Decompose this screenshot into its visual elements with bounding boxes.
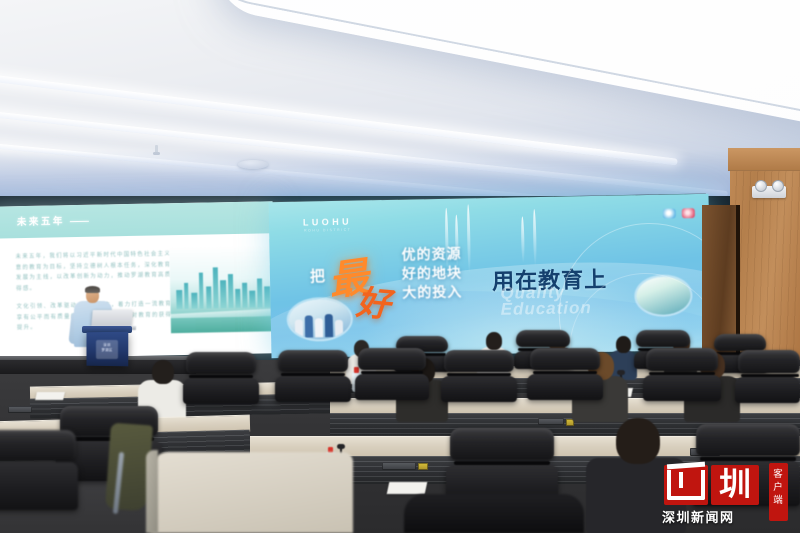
chair-shell-edge <box>146 450 158 533</box>
paper-mid-left[interactable] <box>35 392 65 400</box>
badge-red-emblem-icon <box>682 208 695 218</box>
luohu-logo-subtitle: ROHU DISTRICT <box>304 228 351 233</box>
headline-columns: 优的资源 好的地块 大的投入 <box>401 245 462 303</box>
ceiling <box>0 0 800 205</box>
badge-blue-emblem-icon <box>663 208 676 218</box>
slide-city-image <box>169 245 275 333</box>
headline-column-1: 优的资源 <box>401 245 461 265</box>
watermark-glyph-icon <box>664 465 708 505</box>
paper-near-1[interactable] <box>387 482 428 494</box>
students-photo-circle <box>288 299 351 340</box>
slide-greenbelt <box>171 317 276 334</box>
watermark-side-text: 客户端 <box>769 463 788 521</box>
headline-column-3: 大的投入 <box>402 283 462 303</box>
attendee-head <box>616 418 660 464</box>
left-projection-slide: 未来五年—— 未来五年，我们将以习近平新时代中国特色社会主义思想为指导，以办人民… <box>0 201 275 359</box>
attendee-head <box>616 336 631 353</box>
screen-light-ray-4 <box>521 216 525 263</box>
watermark-mark: 圳 <box>664 465 759 505</box>
speaker-hair <box>85 286 100 293</box>
desk-port-near-1[interactable] <box>382 462 416 470</box>
desk-port-mid-2[interactable] <box>8 406 32 413</box>
desk-port-mid-1[interactable] <box>538 418 564 425</box>
slide-title-dash: —— <box>70 216 89 227</box>
emergency-light-head-right <box>772 180 784 192</box>
slide-title-text: 未来五年 <box>17 216 65 228</box>
headline-column-2: 好的地块 <box>402 264 462 284</box>
watermark-char: 圳 <box>711 465 759 505</box>
desk-port-indicator-near <box>418 463 428 470</box>
screen-light-ray-3 <box>467 205 471 274</box>
chair-shell-foreground[interactable] <box>150 452 353 533</box>
attendee-head <box>486 332 502 350</box>
screen-light-ray-5 <box>533 210 537 266</box>
emergency-light-head-left <box>755 180 767 192</box>
headline-prefix: 把 <box>310 265 325 286</box>
luohu-logo: LUOHU <box>303 217 352 228</box>
attendee-head <box>152 360 174 384</box>
slide-title: 未来五年—— <box>17 213 89 228</box>
chair-foreground-dark[interactable] <box>404 494 584 533</box>
podium-emblem-line-2: 罗湖区 <box>96 348 118 353</box>
screen-badges <box>663 208 695 219</box>
watermark-logo: 圳 客户端 深圳新闻网 <box>642 461 792 527</box>
podium-laptop <box>91 310 132 327</box>
wood-wall-header <box>728 148 800 171</box>
headline-accent-hao: 好 <box>354 275 392 327</box>
watermark-bottom-text: 深圳新闻网 <box>662 507 735 526</box>
conference-room-photo: 未来五年—— 未来五年，我们将以习近平新时代中国特色社会主义思想为指导，以办人民… <box>0 0 800 533</box>
emergency-light <box>752 186 786 198</box>
ceiling-panel-edge <box>193 0 800 144</box>
podium-emblem: 深圳 罗湖区 <box>96 340 118 359</box>
